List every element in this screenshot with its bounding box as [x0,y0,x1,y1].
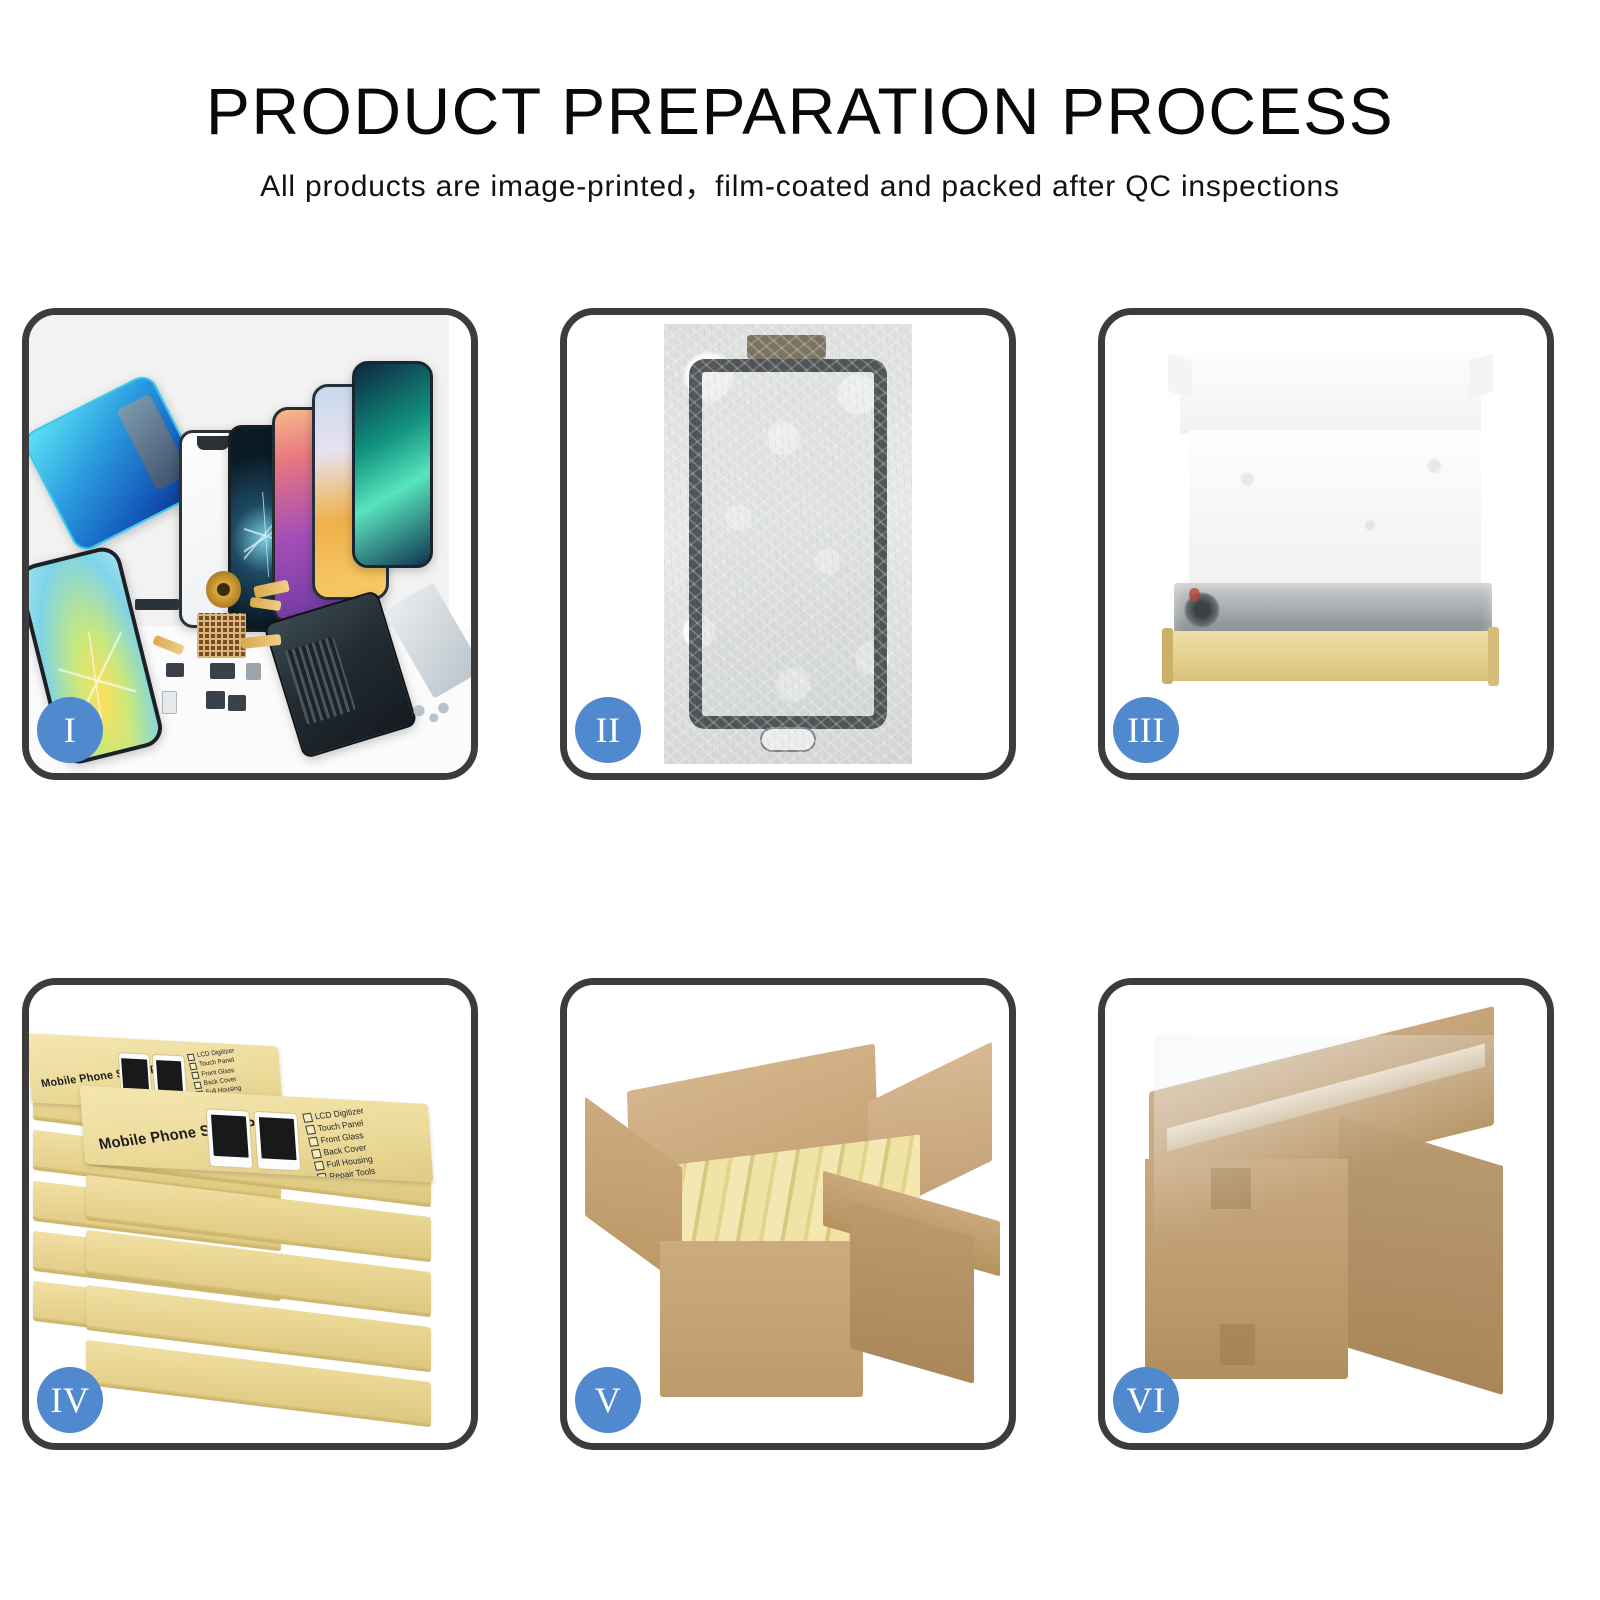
small-part-2 [210,663,234,679]
step-badge-6: VI [1113,1367,1179,1433]
box-lid-open [1180,352,1481,434]
step-panel-2[interactable]: II [560,308,1016,780]
process-steps-grid: I II III [22,308,1554,1450]
carton-front-face [660,1241,863,1397]
small-part-1 [166,663,184,677]
step-badge-1: I [37,697,103,763]
checkbox-icon [305,1125,316,1135]
screen-label-dot [1189,588,1200,602]
step-2-photo [567,315,1009,773]
speaker-module [135,599,179,610]
retail-box-thumb-1 [206,1109,252,1168]
sim-tray [162,691,177,714]
small-part-3 [246,663,262,679]
wireless-charging-coil [206,571,241,608]
checkbox-icon [191,1072,199,1080]
step-1-photo [29,315,471,773]
step-badge-5: V [575,1367,641,1433]
phone-teal-display [352,361,433,569]
step-panel-4[interactable]: Mobile Phone Spare Parts LCD Digitizer T… [22,978,478,1450]
chip-array [197,613,246,659]
page-header: PRODUCT PREPARATION PROCESS All products… [0,0,1600,240]
page-subtitle: All products are image-printed，film-coat… [260,144,1340,202]
step-5-photo [567,985,1009,1443]
screws [409,700,449,727]
step-badge-3: III [1113,697,1179,763]
kraft-inner-box [1167,631,1494,681]
carton-tab-upper [1211,1168,1251,1209]
wrapped-screen-in-box [1174,583,1492,638]
step-panel-5[interactable]: V [560,978,1016,1450]
step-badge-2: II [575,697,641,763]
carton-tab-lower [1220,1324,1255,1365]
step-panel-6[interactable]: VI [1098,978,1554,1450]
checkbox-icon [302,1113,313,1123]
bubble-wrap-sheet [664,324,912,764]
checkbox-icon [314,1161,325,1171]
checkbox-icon [189,1063,197,1071]
foam-pad [1189,430,1481,595]
step-4-photo: Mobile Phone Spare Parts LCD Digitizer T… [29,985,471,1443]
checkbox-icon [193,1081,201,1089]
small-part-6 [228,695,246,711]
checkbox-icon [187,1054,195,1062]
retail-box-thumbnails [206,1109,300,1170]
checkbox-icon [311,1149,322,1159]
step-3-photo [1105,315,1547,773]
step-badge-4: IV [37,1367,103,1433]
step-panel-1[interactable]: I [22,308,478,780]
retail-box-stack: Mobile Phone Spare Parts LCD Digitizer T… [29,985,471,1443]
retail-box-checklist-front: LCD Digitizer Touch Panel Front Glass Ba… [302,1100,430,1182]
wrapped-front-glass [689,359,887,728]
sealed-carton-side [1339,1116,1503,1395]
checkbox-icon [308,1137,319,1147]
step-6-photo [1105,985,1547,1443]
page-title: PRODUCT PREPARATION PROCESS [206,0,1394,144]
small-part-5 [206,691,225,709]
retail-box-thumb-2 [254,1112,300,1171]
step-panel-3[interactable]: III [1098,308,1554,780]
